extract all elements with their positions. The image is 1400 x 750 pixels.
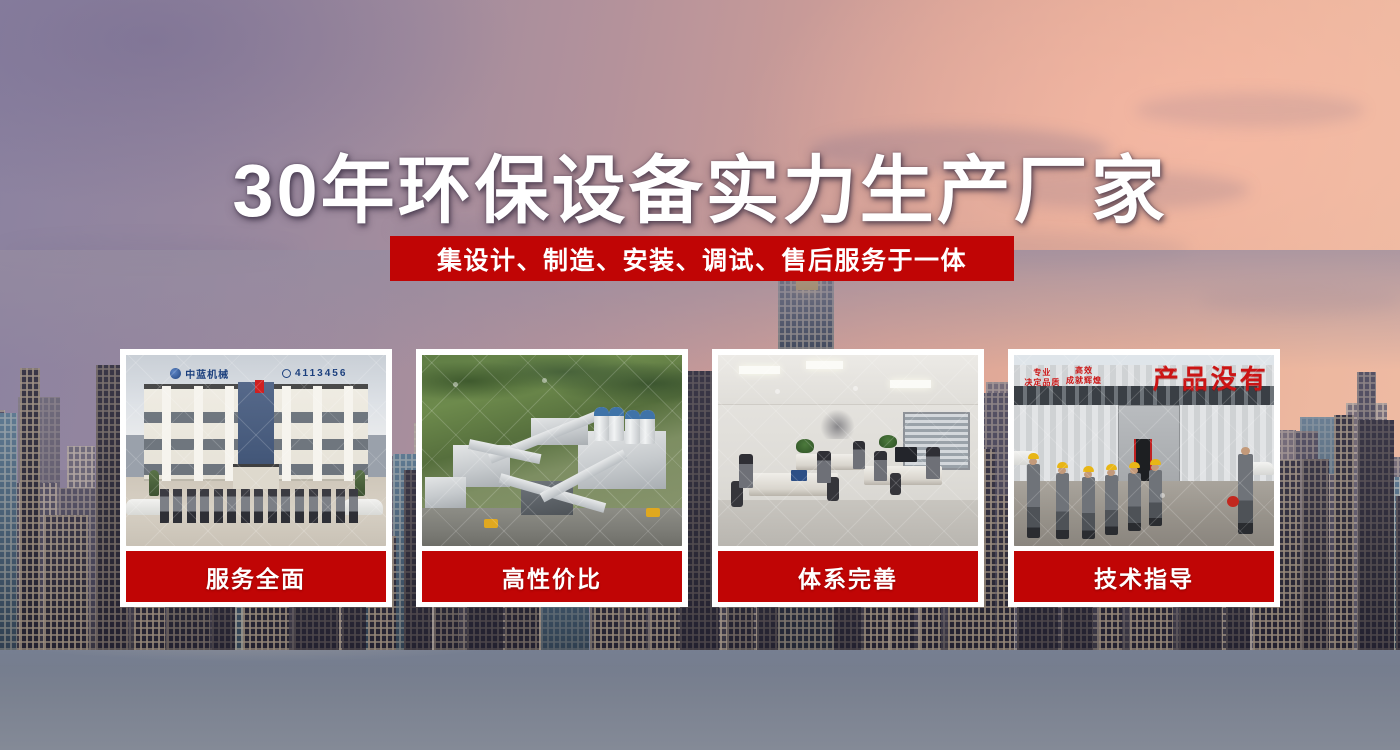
phone-number-text: 4113456 bbox=[295, 368, 347, 379]
factory-slogan-small-2: 决定品质 bbox=[1024, 378, 1060, 387]
building-phone: 4113456 bbox=[282, 367, 347, 379]
factory-slogan-small-3: 高效 bbox=[1075, 366, 1093, 375]
factory-slogan-small-1: 专业 bbox=[1033, 368, 1051, 377]
factory-slogan-text: 产品没有 bbox=[1153, 359, 1269, 396]
factory-slogan-small-4: 成就辉煌 bbox=[1066, 376, 1102, 385]
promo-banner: 30年环保设备实力生产厂家 集设计、制造、安装、调试、售后服务于一体 bbox=[0, 0, 1400, 750]
feature-card-service[interactable]: 中蓝机械 4113456 服务全面 bbox=[120, 349, 392, 607]
feature-card-value[interactable]: 高性价比 bbox=[416, 349, 688, 607]
feature-card-guidance[interactable]: 产品没有 专业 决定品质 高效 成就辉煌 bbox=[1008, 349, 1280, 607]
subtitle-banner: 集设计、制造、安装、调试、售后服务于一体 bbox=[390, 236, 1014, 281]
card-caption-text: 体系完善 bbox=[798, 560, 898, 594]
subtitle-text: 集设计、制造、安装、调试、售后服务于一体 bbox=[437, 241, 967, 277]
feature-card-list: 中蓝机械 4113456 服务全面 bbox=[120, 349, 1280, 607]
card-photo-office-interior bbox=[718, 355, 978, 546]
card-caption-guidance: 技术指导 bbox=[1014, 551, 1274, 602]
feature-card-system[interactable]: 体系完善 bbox=[712, 349, 984, 607]
card-caption-text: 服务全面 bbox=[206, 560, 306, 594]
building-sign: 中蓝机械 bbox=[170, 367, 229, 379]
phone-icon bbox=[282, 369, 291, 378]
card-photo-office-building: 中蓝机械 4113456 bbox=[126, 355, 386, 546]
card-caption-text: 技术指导 bbox=[1094, 560, 1194, 594]
card-photo-workers: 产品没有 专业 决定品质 高效 成就辉煌 bbox=[1014, 355, 1274, 546]
company-name-text: 中蓝机械 bbox=[185, 366, 229, 381]
card-caption-system: 体系完善 bbox=[718, 551, 978, 602]
company-logo-icon bbox=[170, 368, 181, 379]
card-caption-text: 高性价比 bbox=[502, 560, 602, 594]
card-caption-value: 高性价比 bbox=[422, 551, 682, 602]
card-photo-plant-aerial bbox=[422, 355, 682, 546]
page-title: 30年环保设备实力生产厂家 bbox=[0, 131, 1400, 238]
card-caption-service: 服务全面 bbox=[126, 551, 386, 602]
wall-decal bbox=[817, 408, 859, 439]
